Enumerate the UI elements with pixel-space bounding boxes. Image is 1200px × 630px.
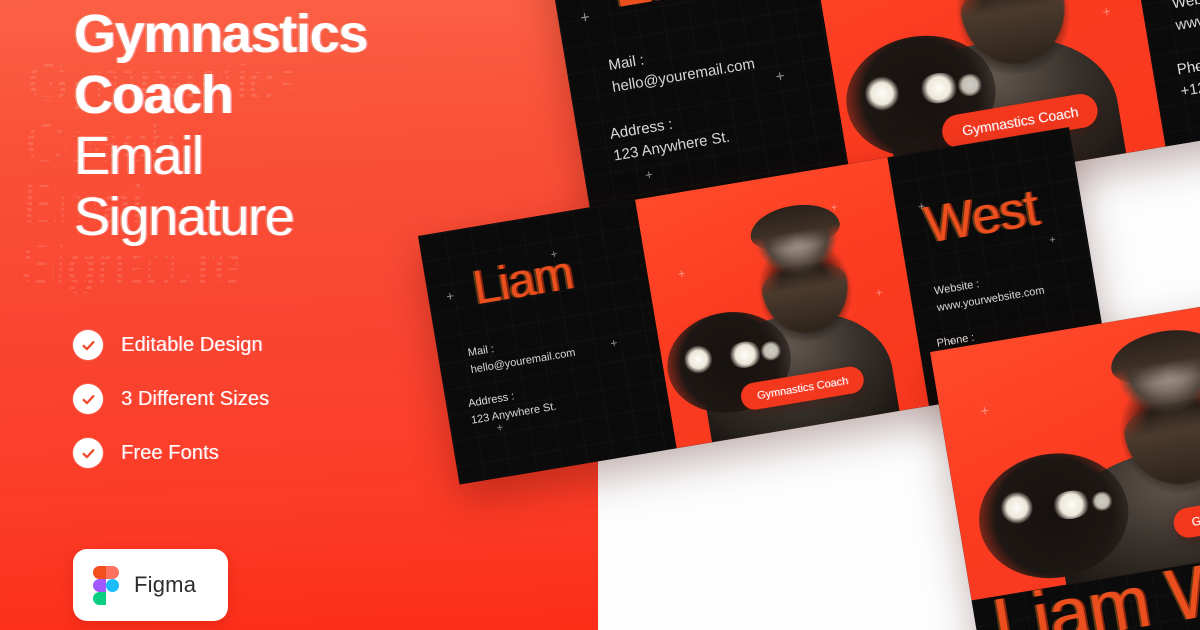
feature-item-free-fonts: Free Fonts	[73, 435, 269, 471]
phone-info-block: Phone : +123-456-7890	[1175, 43, 1200, 103]
sparkle-icon: +	[579, 10, 591, 27]
feature-item-sizes: 3 Different Sizes	[73, 381, 269, 417]
last-name-heading: West	[920, 178, 1042, 256]
banner-left-info-panel: + + + + Liam Mail : hello@youremail.com …	[418, 200, 677, 485]
feature-label: Editable Design	[121, 334, 263, 357]
title-line-2: Coach	[74, 65, 544, 126]
title-line-1: Gymnastics	[74, 4, 544, 65]
sparkle-icon: +	[1049, 235, 1057, 247]
check-circle-icon	[73, 330, 103, 360]
figma-logo-icon	[93, 566, 119, 605]
website-info-block: Website : www.yourwebsite.com	[933, 266, 1046, 317]
address-info-block: Address : 123 Anywhere St.	[467, 382, 558, 430]
sparkle-icon: +	[644, 168, 654, 182]
sparkle-icon: +	[609, 337, 618, 350]
title-line-3: Email	[74, 126, 544, 187]
mail-info-block: Mail : hello@youremail.com	[467, 328, 577, 379]
first-name-heading: Liam	[605, 0, 764, 23]
promo-mockup-canvas: Gymnastics Coach Email Signature Gymnast…	[0, 0, 1200, 630]
check-circle-icon	[73, 384, 103, 414]
sparkle-icon: +	[445, 289, 455, 303]
phone-label: Phone :	[1175, 43, 1200, 82]
feature-list: Editable Design 3 Different Sizes Free F…	[73, 327, 269, 489]
first-name-heading: Liam	[469, 245, 577, 316]
website-info-block: Website : www.yourwebsite.com	[1170, 0, 1200, 37]
sparkle-icon: +	[775, 69, 786, 85]
check-circle-icon	[73, 438, 103, 468]
page-title: Gymnastics Coach Email Signature	[74, 4, 544, 248]
figma-badge-label: Figma	[134, 572, 196, 598]
feature-label: Free Fonts	[121, 442, 219, 465]
address-info-block: Address : 123 Anywhere St.	[608, 105, 731, 168]
portrait-photo-panel: + + + Gymnastics Coach	[635, 157, 929, 448]
feature-item-editable-design: Editable Design	[73, 327, 269, 363]
mail-info-block: Mail : hello@youremail.com	[607, 32, 757, 99]
figma-badge[interactable]: Figma	[73, 549, 228, 621]
feature-label: 3 Different Sizes	[121, 388, 269, 411]
